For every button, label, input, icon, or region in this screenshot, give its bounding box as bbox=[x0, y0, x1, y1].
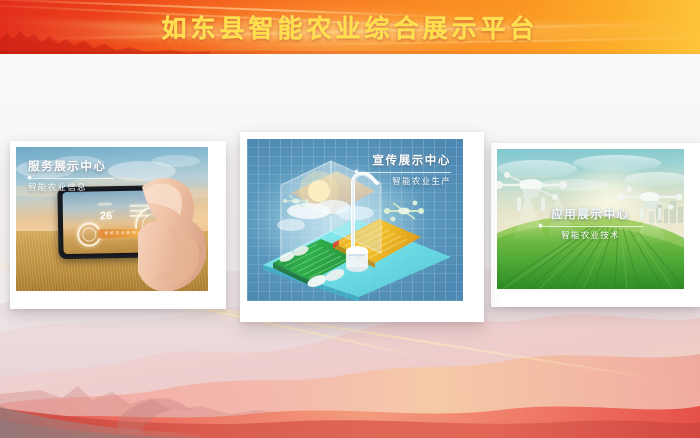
card-application-caption: 应用展示中心 智能农业技术 bbox=[539, 209, 643, 240]
card-promotion-image: 宣传展示中心 智能农业生产 bbox=[247, 139, 463, 301]
caption-divider bbox=[28, 178, 114, 179]
card-application-center[interactable]: 应用展示中心 智能农业技术 bbox=[491, 143, 700, 307]
card-application-title: 应用展示中心 bbox=[539, 209, 643, 222]
hud-temperature: 26° bbox=[100, 210, 115, 222]
card-service-center[interactable]: 26° 智能农业监测 bbox=[10, 141, 226, 309]
page-title: 如东县智能农业综合展示平台 bbox=[0, 0, 700, 54]
card-service-title: 服务展示中心 bbox=[28, 161, 114, 174]
drone-right bbox=[384, 201, 424, 222]
card-promotion-caption: 宣传展示中心 智能农业生产 bbox=[355, 155, 451, 186]
card-application-subtitle: 智能农业技术 bbox=[539, 231, 643, 240]
card-promotion-center[interactable]: 宣传展示中心 智能农业生产 bbox=[240, 132, 484, 322]
card-service-caption: 服务展示中心 智能农业信息 bbox=[28, 161, 114, 192]
card-promotion-subtitle: 智能农业生产 bbox=[355, 177, 451, 186]
page-root: 如东县智能农业综合展示平台 bbox=[0, 0, 700, 438]
hand-illustration bbox=[136, 173, 208, 291]
card-application-image: 应用展示中心 智能农业技术 bbox=[497, 149, 684, 289]
caption-dot bbox=[539, 224, 542, 227]
card-service-image: 26° 智能农业监测 bbox=[16, 147, 208, 291]
caption-divider bbox=[539, 226, 643, 227]
header-banner: 如东县智能农业综合展示平台 bbox=[0, 0, 700, 54]
card-service-subtitle: 智能农业信息 bbox=[28, 183, 114, 192]
card-promotion-title: 宣传展示中心 bbox=[355, 155, 451, 168]
caption-dot bbox=[355, 170, 358, 173]
hud-bar bbox=[98, 203, 112, 205]
caption-divider bbox=[355, 172, 451, 173]
caption-dot bbox=[28, 176, 31, 179]
